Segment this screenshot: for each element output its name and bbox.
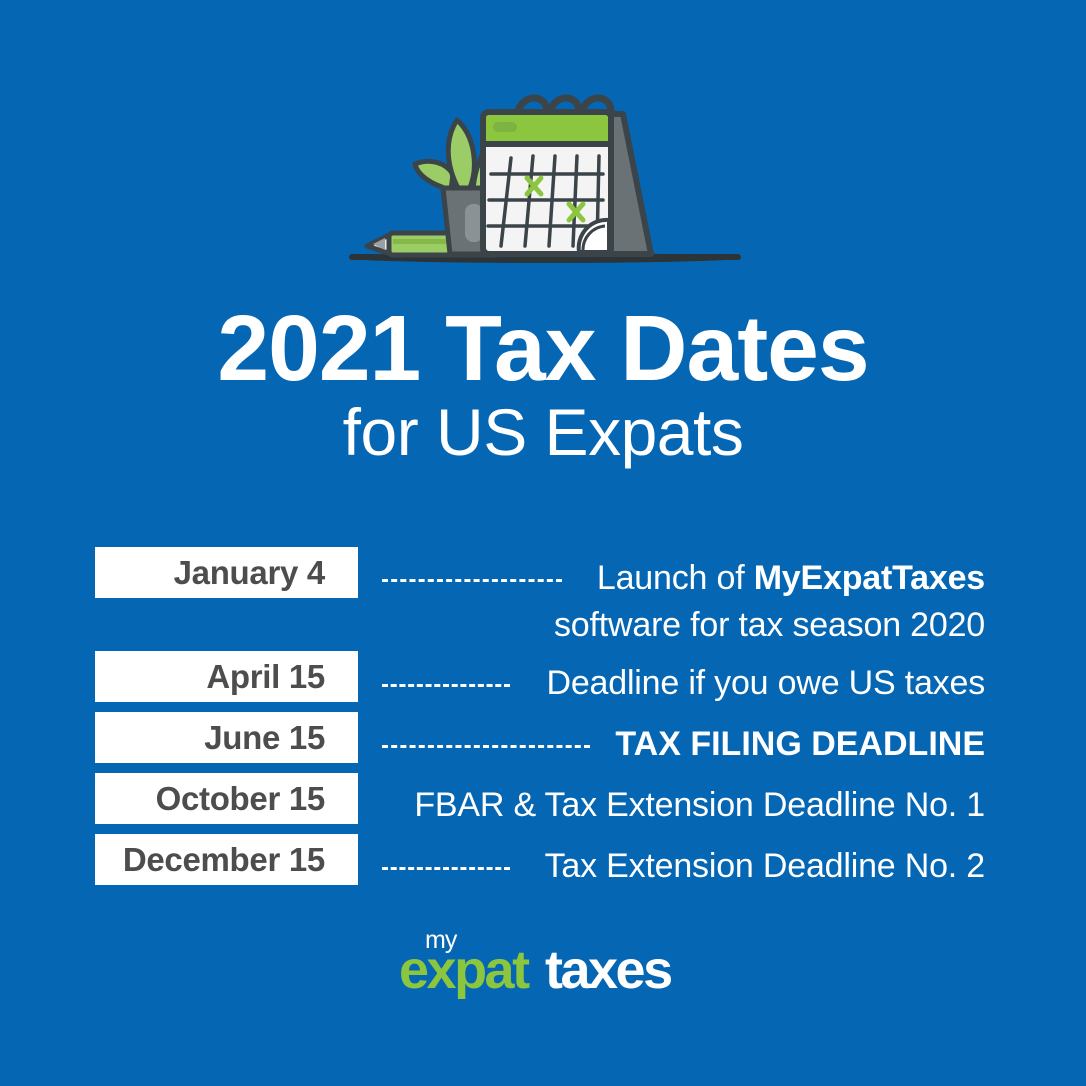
date-chip[interactable]: December 15	[95, 834, 358, 885]
page-title: 2021 Tax Dates	[0, 300, 1086, 396]
desc-text-prefix: FBAR & Tax Extension Deadline No. 1	[414, 786, 985, 824]
date-description: Tax Extension Deadline No. 2	[380, 843, 985, 890]
desc-text-line2: software for tax season 2020	[554, 606, 985, 644]
date-chip[interactable]: October 15	[95, 773, 358, 824]
date-description: FBAR & Tax Extension Deadline No. 1	[380, 782, 985, 829]
desk-calendar-illustration	[333, 78, 753, 278]
logo-expat-text: expat	[399, 940, 530, 1000]
logo-taxes-text: taxes	[545, 940, 671, 1000]
myexpattaxes-logo-mark: my expat taxes	[383, 922, 703, 1002]
desc-text-prefix: Tax Extension Deadline No. 2	[545, 847, 985, 885]
date-description: Launch of MyExpatTaxes software for tax …	[380, 555, 985, 649]
desc-text-prefix: Deadline if you owe US taxes	[546, 664, 985, 702]
date-label: January 4	[174, 554, 325, 592]
myexpattaxes-logo[interactable]: my expat taxes	[0, 922, 1086, 1002]
date-chip[interactable]: June 15	[95, 712, 358, 763]
date-description: Deadline if you owe US taxes	[380, 660, 985, 707]
date-label: June 15	[204, 719, 325, 757]
desc-text-prefix: TAX FILING DEADLINE	[615, 725, 985, 763]
date-chip[interactable]: January 4	[95, 547, 358, 598]
date-label: October 15	[156, 780, 325, 818]
desc-text-prefix: Launch of	[597, 559, 754, 597]
page-subtitle: for US Expats	[0, 396, 1086, 468]
title-block: 2021 Tax Dates for US Expats	[0, 300, 1086, 468]
hero-illustration	[0, 78, 1086, 278]
desc-text-bold: MyExpatTaxes	[754, 559, 985, 597]
date-description: TAX FILING DEADLINE	[380, 721, 985, 768]
date-chip[interactable]: April 15	[95, 651, 358, 702]
date-label: December 15	[123, 841, 325, 879]
date-label: April 15	[206, 658, 325, 696]
